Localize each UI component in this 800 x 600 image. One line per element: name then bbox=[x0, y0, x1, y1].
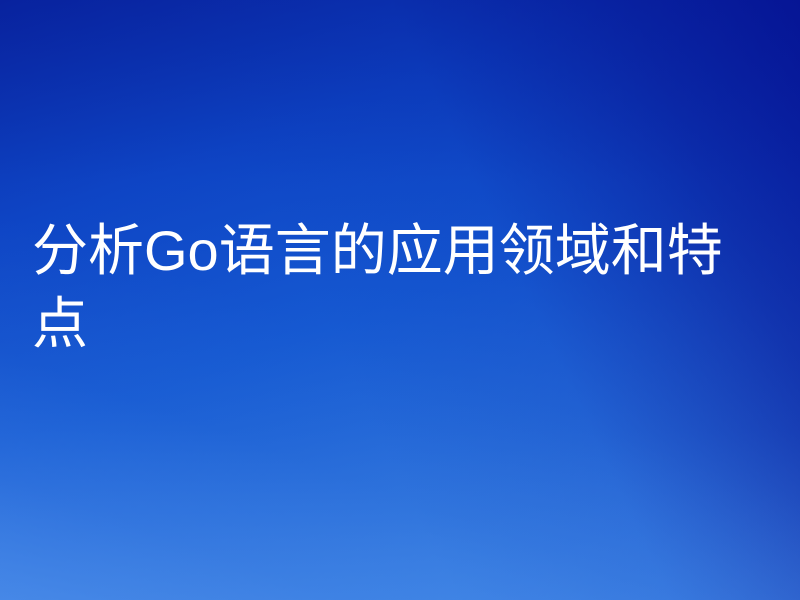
title-block: 分析Go语言的应用领域和特点 bbox=[32, 214, 772, 360]
slide-canvas: 分析Go语言的应用领域和特点 bbox=[0, 0, 800, 600]
slide-title: 分析Go语言的应用领域和特点 bbox=[32, 214, 772, 360]
